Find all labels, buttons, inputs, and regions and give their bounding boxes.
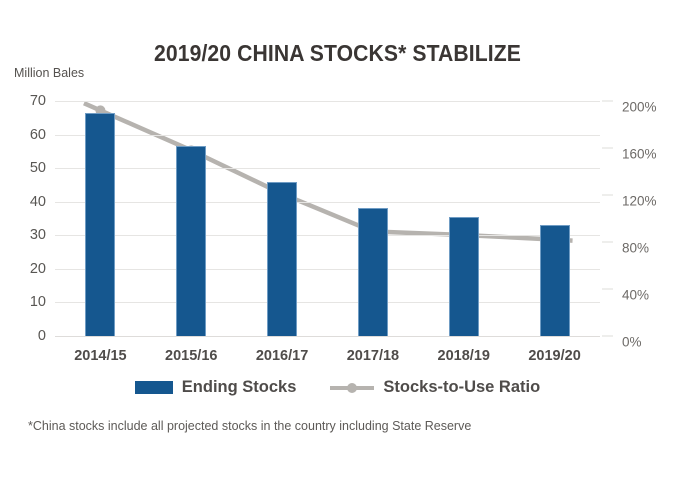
- y2-axis-tick-mark: [602, 336, 613, 337]
- x-axis-tick-label: 2016/17: [256, 348, 308, 364]
- legend-bar-swatch-icon: [135, 381, 173, 394]
- y2-axis-tick-mark: [602, 289, 613, 290]
- legend-label-ending-stocks: Ending Stocks: [182, 378, 297, 397]
- gridline: [55, 302, 600, 303]
- y-axis-tick-label: 50: [30, 160, 46, 176]
- y2-axis-tick-mark: [602, 195, 613, 196]
- y2-axis-tick-mark: [602, 101, 613, 102]
- plot-area: 706050403020100200%160%120%80%40%0%2014/…: [55, 101, 600, 336]
- ratio-line-path: [84, 103, 573, 240]
- y2-axis-tick-label: 200%: [622, 100, 657, 115]
- y-axis-tick-label: 0: [38, 328, 46, 344]
- gridline: [55, 235, 600, 236]
- gridline: [55, 336, 600, 337]
- y2-axis-tick-label: 160%: [622, 147, 657, 162]
- y-axis-unit-label: Million Bales: [14, 66, 84, 80]
- chart-footnote: *China stocks include all projected stoc…: [28, 419, 471, 433]
- bar: [267, 182, 297, 336]
- y-axis-tick-label: 30: [30, 227, 46, 243]
- y-axis-tick-label: 40: [30, 194, 46, 210]
- y2-axis-tick-label: 0%: [622, 335, 642, 350]
- bar: [85, 113, 115, 336]
- y-axis-tick-label: 10: [30, 294, 46, 310]
- chart-title: 2019/20 CHINA STOCKS* STABILIZE: [27, 40, 648, 67]
- legend-item-ending-stocks[interactable]: Ending Stocks: [135, 378, 297, 397]
- gridline: [55, 269, 600, 270]
- x-axis-tick-label: 2019/20: [528, 348, 580, 364]
- y-axis-tick-label: 60: [30, 127, 46, 143]
- y2-axis-tick-label: 120%: [622, 194, 657, 209]
- x-axis-tick-label: 2018/19: [438, 348, 490, 364]
- gridline: [55, 202, 600, 203]
- bar: [176, 146, 206, 336]
- gridline: [55, 168, 600, 169]
- y2-axis-tick-mark: [602, 148, 613, 149]
- legend-line-dot-swatch-icon: [330, 381, 374, 394]
- y-axis-tick-label: 70: [30, 93, 46, 109]
- x-axis-tick-label: 2017/18: [347, 348, 399, 364]
- x-axis-tick-label: 2015/16: [165, 348, 217, 364]
- bar: [358, 208, 388, 336]
- y-axis-tick-label: 20: [30, 261, 46, 277]
- stocks-to-use-ratio-line: [55, 101, 600, 336]
- x-axis-tick-label: 2014/15: [74, 348, 126, 364]
- gridline: [55, 101, 600, 102]
- y2-axis-tick-mark: [602, 242, 613, 243]
- y2-axis-tick-label: 40%: [622, 288, 649, 303]
- bar: [540, 225, 570, 336]
- chart-legend: Ending Stocks Stocks-to-Use Ratio: [0, 378, 675, 397]
- legend-label-stocks-to-use-ratio: Stocks-to-Use Ratio: [383, 378, 540, 397]
- chart-container: 2019/20 CHINA STOCKS* STABILIZE Million …: [0, 0, 675, 477]
- bar: [449, 217, 479, 337]
- legend-item-stocks-to-use-ratio[interactable]: Stocks-to-Use Ratio: [330, 378, 540, 397]
- gridline: [55, 135, 600, 136]
- y2-axis-tick-label: 80%: [622, 241, 649, 256]
